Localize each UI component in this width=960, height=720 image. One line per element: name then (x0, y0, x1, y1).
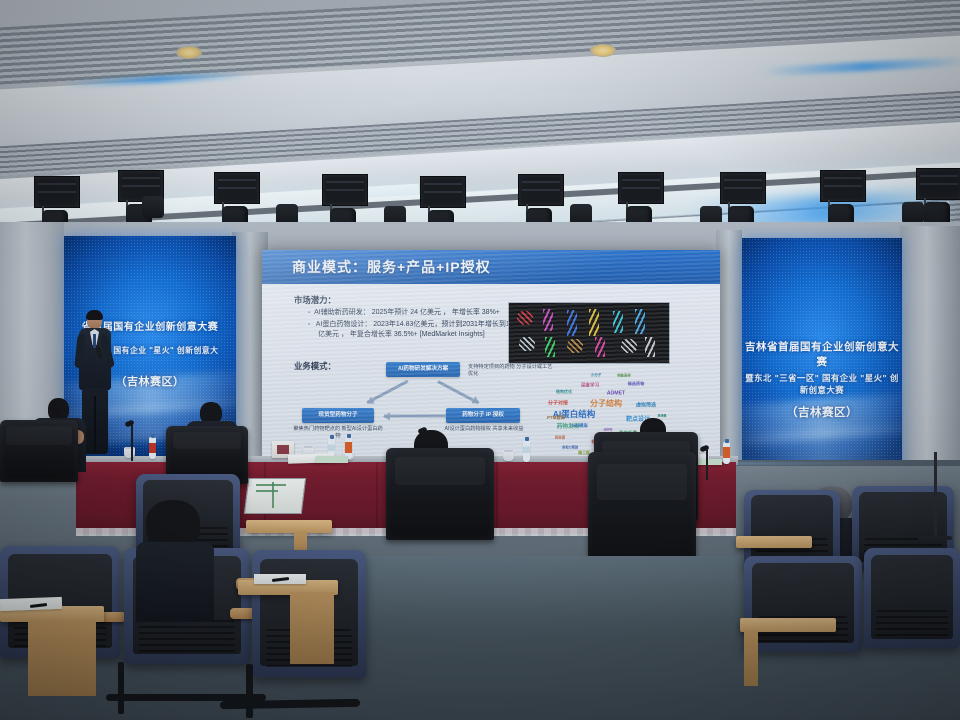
market-potential-heading: 市场潜力： (294, 294, 336, 306)
executive-chair (0, 420, 78, 482)
wall-panel-right (900, 226, 960, 476)
flow-arrow-left (367, 380, 409, 404)
flow-note-ready-molecule: 聚焦热门药物靶点的 新型AI设计蛋白药物 (292, 426, 384, 439)
flow-arrow-horizontal (384, 415, 446, 418)
flow-box-solution: AI药物研发解决方案 (386, 362, 460, 377)
flow-box-ip-license: 药物分子 IP 授权 (446, 408, 520, 423)
word-cloud-term: 小分子 (591, 374, 602, 378)
word-cloud-term: MD模拟 (572, 424, 588, 428)
seat-leg (118, 662, 124, 714)
conference-hall-photo: 省首届国有企业创新创意大赛 省一区" 国有企业 "星火" 创新创意大 （吉林赛区… (0, 0, 960, 720)
business-model-heading: 业务模式： (294, 360, 336, 372)
slide-title-text: 商业模式：服务+产品+IP授权 (292, 257, 491, 277)
word-cloud-term: 亲和力预测 (562, 446, 578, 449)
market-bullet-2-line1: AI蛋白药物设计： 2023年14.83亿美元，预计到2031年增长到178 (316, 321, 518, 328)
protein-structure-image (508, 302, 670, 364)
water-bottle (723, 442, 730, 464)
seat-tablet-arm (736, 536, 812, 548)
microphone-stand (706, 450, 708, 480)
word-cloud-term: 结构优化 (556, 390, 572, 394)
market-bullet-1: AI辅助新药研发： 2025年预计 24 亿美元 ， 年增长率 38%+ (308, 308, 500, 318)
recessed-downlight-icon (176, 46, 202, 59)
paper-cup (503, 450, 514, 461)
executive-chair (386, 448, 494, 540)
word-cloud-term: 高通量 (657, 415, 666, 418)
document-paper (316, 456, 348, 463)
recessed-downlight-icon (590, 44, 616, 57)
word-cloud-term: PTM修饰 (547, 416, 565, 420)
right-banner-line3: （吉林赛区） (742, 404, 902, 420)
word-cloud-term: 药效团 (555, 436, 565, 439)
right-banner-line2: 暨东北 "三省一区" 国有企业 "星火" 创新创意大赛 (742, 372, 902, 396)
seat-leg (246, 664, 253, 718)
flow-arrow-right (437, 380, 479, 404)
seat-tablet-arm (246, 520, 332, 533)
executive-chair (588, 452, 696, 572)
water-bottle (149, 437, 156, 459)
speaker-stand (934, 452, 937, 538)
word-cloud-term: 深度学习 (581, 384, 599, 389)
speaker-stand-base (918, 536, 952, 540)
presenter-hair (86, 310, 103, 320)
led-banner-right: 吉林省首届国有企业创新创意大赛 暨东北 "三省一区" 国有企业 "星火" 创新创… (742, 238, 902, 490)
flow-note-ip-license: AI设计蛋白药物授权 共享未来收益 (442, 426, 526, 433)
word-cloud-term: 虚拟筛选 (636, 404, 656, 409)
flow-box-ready-molecule: 现货型药物分子 (302, 408, 374, 423)
paper-cup (124, 447, 135, 458)
word-cloud-term: ADMET (607, 391, 625, 396)
flow-note-solution: 支持特定项目的药物 分子设计或工艺优化 (468, 364, 554, 377)
microphone-stand (131, 425, 133, 461)
word-cloud-term: 分子对接 (548, 402, 568, 407)
slide-title-bar: 商业模式：服务+产品+IP授权 (262, 250, 720, 284)
right-banner-line1: 吉林省首届国有企业创新创意大赛 (742, 339, 902, 369)
word-cloud-term: 分子结构 (590, 400, 622, 408)
water-bottle (523, 440, 530, 462)
word-cloud-term: 候选药物 (628, 382, 645, 386)
word-cloud-term: 构象采样 (617, 374, 631, 377)
